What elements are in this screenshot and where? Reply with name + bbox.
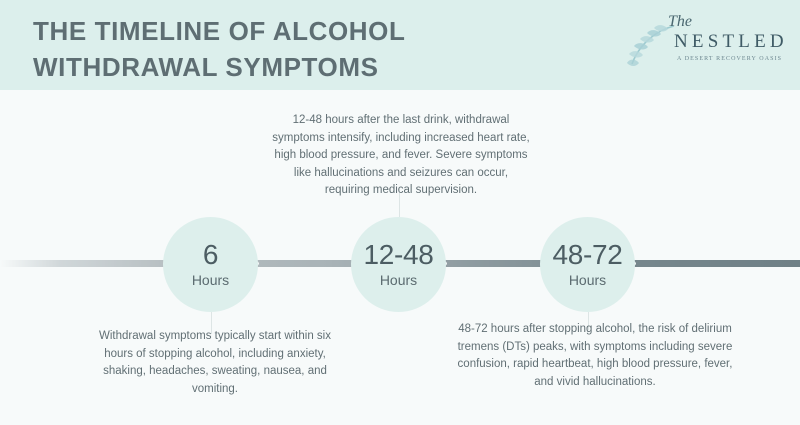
node-unit: Hours: [380, 271, 417, 289]
node-description-48-72-hours: 48-72 hours after stopping alcohol, the …: [457, 321, 733, 391]
brand-logo: The NESTLED A DESERT RECOVERY OASIS: [622, 14, 772, 76]
node-description-6-hours: Withdrawal symptoms typically start with…: [90, 328, 340, 398]
node-value: 6: [203, 240, 218, 270]
logo-tagline: A DESERT RECOVERY OASIS: [677, 55, 782, 63]
logo-script-word: The: [668, 14, 692, 30]
node-description-12-48-hours: 12-48 hours after the last drink, withdr…: [272, 112, 530, 200]
logo-name: NESTLED: [674, 31, 788, 53]
page-title: THE TIMELINE OF ALCOHOL WITHDRAWAL SYMPT…: [33, 13, 593, 85]
node-unit: Hours: [192, 271, 229, 289]
node-value: 12-48: [363, 240, 433, 270]
infographic-canvas: THE TIMELINE OF ALCOHOL WITHDRAWAL SYMPT…: [0, 0, 800, 425]
node-value: 48-72: [552, 240, 622, 270]
timeline-node-6-hours[interactable]: 6 Hours: [163, 217, 258, 312]
timeline-node-12-48-hours[interactable]: 12-48 Hours: [351, 217, 446, 312]
timeline-node-48-72-hours[interactable]: 48-72 Hours: [540, 217, 635, 312]
node-unit: Hours: [569, 271, 606, 289]
